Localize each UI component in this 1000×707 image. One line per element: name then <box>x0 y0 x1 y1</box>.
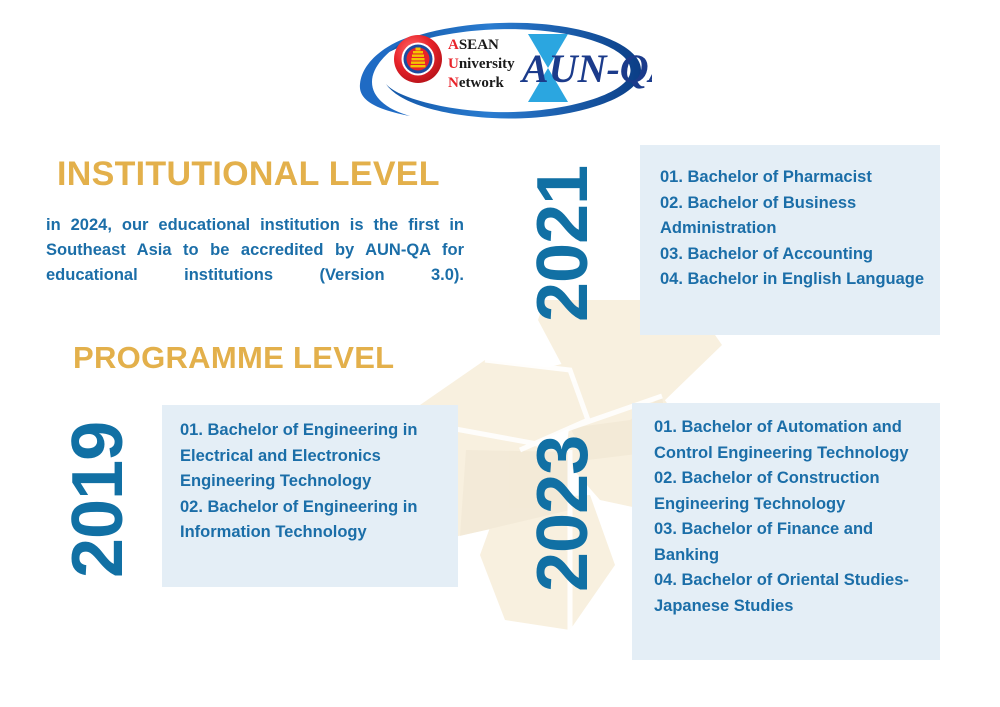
svg-text:Network: Network <box>448 75 504 91</box>
programme-card-2019: 01. Bachelor of Engineering in Electrica… <box>162 405 458 587</box>
list-item: 01. Bachelor of Engineering in Electrica… <box>180 418 450 495</box>
svg-text:University: University <box>448 56 515 72</box>
programme-list-2023: 01. Bachelor of Automation and Control E… <box>632 403 940 619</box>
list-item: 04. Bachelor of Oriental Studies- Japane… <box>654 568 932 619</box>
aun-qa-logo: ASEAN University Network AUN-QA <box>352 18 652 130</box>
list-item: 02. Bachelor of Construction Engineering… <box>654 466 932 517</box>
aun-qa-logo-svg: ASEAN University Network AUN-QA <box>352 18 652 130</box>
list-item: 03. Bachelor of Accounting <box>660 242 928 268</box>
programme-card-2023: 01. Bachelor of Automation and Control E… <box>632 403 940 660</box>
programme-list-2019: 01. Bachelor of Engineering in Electrica… <box>162 405 458 546</box>
svg-text:ASEAN: ASEAN <box>448 37 499 53</box>
list-item: 02. Bachelor of Engineering in Informati… <box>180 495 450 546</box>
year-label-2021: 2021 <box>527 166 599 322</box>
list-item: 04. Bachelor in English Language <box>660 267 928 293</box>
infographic-canvas: ASEAN University Network AUN-QA INSTITUT… <box>0 0 1000 707</box>
year-label-2023: 2023 <box>527 436 599 592</box>
institutional-level-heading: INSTITUTIONAL LEVEL <box>57 155 440 194</box>
svg-text:AUN-QA: AUN-QA <box>519 46 652 91</box>
programme-list-2021: 01. Bachelor of Pharmacist 02. Bachelor … <box>640 145 940 293</box>
programme-level-heading: PROGRAMME LEVEL <box>73 340 394 376</box>
year-label-2019: 2019 <box>62 422 134 578</box>
list-item: 01. Bachelor of Automation and Control E… <box>654 415 932 466</box>
list-item: 02. Bachelor of Business Administration <box>660 191 928 242</box>
list-item: 03. Bachelor of Finance and Banking <box>654 517 932 568</box>
list-item: 01. Bachelor of Pharmacist <box>660 165 928 191</box>
programme-card-2021: 01. Bachelor of Pharmacist 02. Bachelor … <box>640 145 940 335</box>
institutional-level-paragraph: in 2024, our educational institution is … <box>46 213 464 313</box>
